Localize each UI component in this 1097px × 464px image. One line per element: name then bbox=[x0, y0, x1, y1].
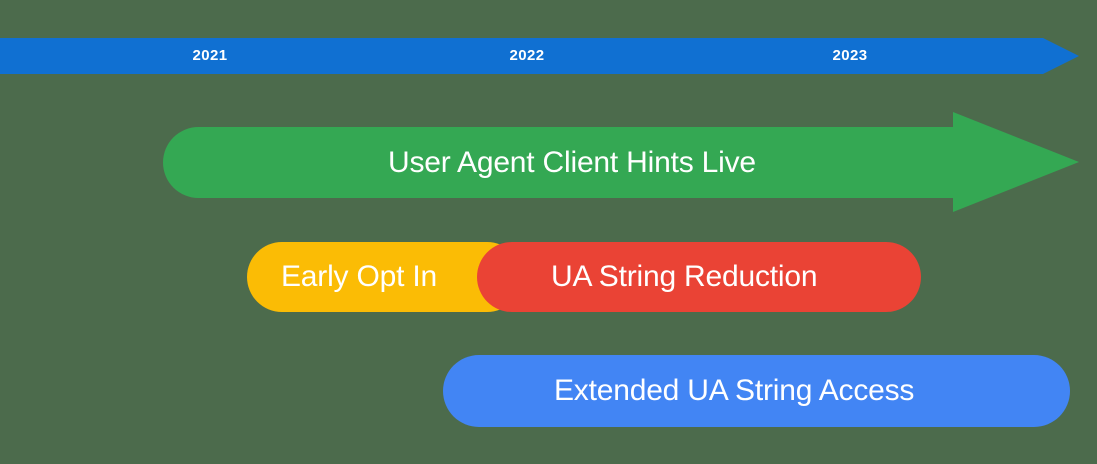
year-tick-2023: 2023 bbox=[810, 38, 890, 74]
bar-label-early-opt-in: Early Opt In bbox=[281, 262, 437, 292]
year-axis: 2021 2022 2023 bbox=[0, 38, 1079, 74]
year-tick-2022: 2022 bbox=[487, 38, 567, 74]
timeline-diagram: 2021 2022 2023 User Agent Client Hints L… bbox=[0, 0, 1097, 464]
bar-label-ua-string-reduction: UA String Reduction bbox=[551, 262, 817, 292]
year-tick-2021: 2021 bbox=[170, 38, 250, 74]
bar-label-extended-ua-string-access: Extended UA String Access bbox=[554, 376, 914, 406]
green-bar-arrowhead-icon bbox=[953, 112, 1079, 212]
bar-label-user-agent-client-hints-live: User Agent Client Hints Live bbox=[388, 148, 756, 178]
